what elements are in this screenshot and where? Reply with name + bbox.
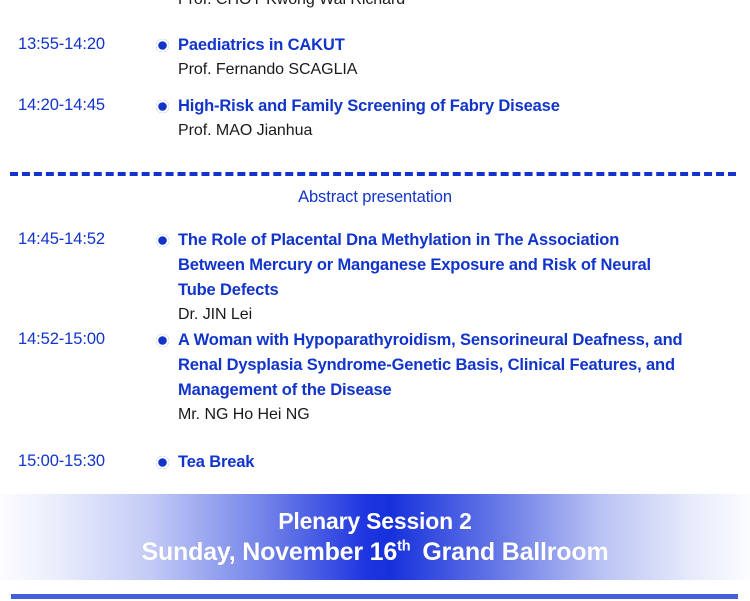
schedule-row-body: The Role of Placental Dna Methylation in… [178, 228, 750, 327]
section-divider [10, 172, 736, 176]
banner-venue: Grand Ballroom [422, 538, 608, 566]
bullet-cell [156, 94, 178, 113]
radio-bullet-icon [156, 456, 169, 469]
schedule-row[interactable]: 14:20-14:45 High-Risk and Family Screeni… [0, 94, 750, 143]
time-slot: 14:52-15:00 [0, 328, 156, 350]
schedule-page: Prof. CHOY Kwong Wai Richard 13:55-14:20… [0, 0, 750, 601]
abstract-section-label: Abstract presentation [0, 186, 750, 208]
speaker-name: Prof. MAO Jianhua [178, 119, 726, 143]
schedule-row-clipped: Prof. CHOY Kwong Wai Richard [0, 0, 750, 12]
time-slot: 13:55-14:20 [0, 33, 156, 55]
speaker-name: Dr. JIN Lei [178, 303, 688, 327]
schedule-row-body: Prof. CHOY Kwong Wai Richard [178, 0, 750, 12]
schedule-row[interactable]: 13:55-14:20 Paediatrics in CAKUT Prof. F… [0, 33, 750, 82]
talk-title[interactable]: Tea Break [178, 450, 726, 475]
time-slot: 14:20-14:45 [0, 94, 156, 116]
banner-date: Sunday, November 16 [142, 538, 398, 566]
bullet-cell [156, 228, 178, 247]
banner-date-ordinal: th [397, 538, 410, 554]
schedule-row-body: A Woman with Hypoparathyroidism, Sensori… [178, 328, 750, 427]
radio-bullet-icon [156, 334, 169, 347]
schedule-row-body: Paediatrics in CAKUT Prof. Fernando SCAG… [178, 33, 750, 82]
bottom-rule [11, 594, 738, 599]
speaker-name: Prof. Fernando SCAGLIA [178, 58, 726, 82]
banner-session-title: Plenary Session 2 [278, 506, 471, 536]
radio-bullet-icon [156, 100, 169, 113]
banner-date-venue: Sunday, November 16thGrand Ballroom [142, 536, 609, 569]
radio-bullet-icon [156, 234, 169, 247]
bullet-cell [156, 328, 178, 347]
schedule-row-body: High-Risk and Family Screening of Fabry … [178, 94, 750, 143]
talk-title[interactable]: A Woman with Hypoparathyroidism, Sensori… [178, 328, 728, 403]
speaker-name: Prof. CHOY Kwong Wai Richard [178, 0, 726, 12]
time-slot: 15:00-15:30 [0, 450, 156, 472]
talk-title[interactable]: Paediatrics in CAKUT [178, 33, 726, 58]
bullet-cell [156, 33, 178, 52]
schedule-row[interactable]: 15:00-15:30 Tea Break [0, 450, 750, 475]
time-slot: 14:45-14:52 [0, 228, 156, 250]
talk-title[interactable]: High-Risk and Family Screening of Fabry … [178, 94, 726, 119]
radio-bullet-icon [156, 39, 169, 52]
plenary-session-banner: Plenary Session 2 Sunday, November 16thG… [0, 494, 750, 580]
schedule-row-body: Tea Break [178, 450, 750, 475]
schedule-row[interactable]: 14:52-15:00 A Woman with Hypoparathyroid… [0, 328, 750, 427]
talk-title[interactable]: The Role of Placental Dna Methylation in… [178, 228, 688, 303]
speaker-name: Mr. NG Ho Hei NG [178, 403, 728, 427]
bullet-cell [156, 450, 178, 469]
schedule-row[interactable]: 14:45-14:52 The Role of Placental Dna Me… [0, 228, 750, 327]
